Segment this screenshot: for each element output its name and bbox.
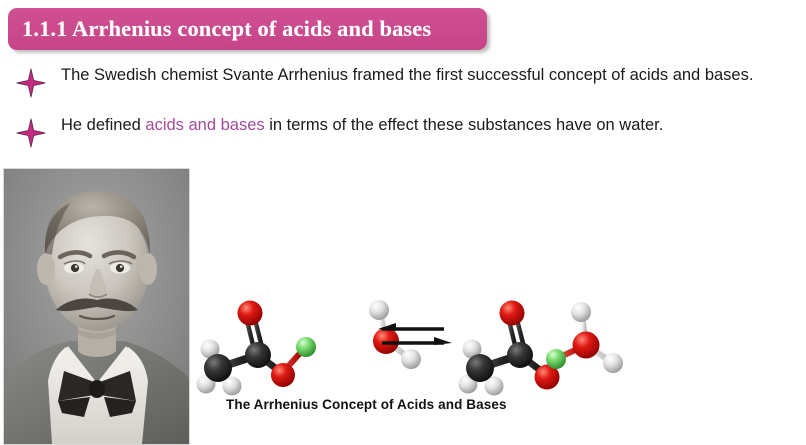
title-banner: 1.1.1 Arrhenius concept of acids and bas… bbox=[8, 8, 487, 50]
bullet-2-segment-1: He defined bbox=[61, 116, 145, 134]
svante-arrhenius-portrait bbox=[3, 168, 190, 445]
bullet-2-highlight: acids and bases bbox=[145, 116, 264, 134]
list-item-text: The Swedish chemist Svante Arrhenius fra… bbox=[61, 64, 806, 87]
hydronium-ion-molecule bbox=[546, 302, 623, 373]
acetate-ion-molecule bbox=[459, 301, 560, 396]
slide-canvas: 1.1.1 Arrhenius concept of acids and bas… bbox=[0, 0, 806, 445]
figure-caption: The Arrhenius Concept of Acids and Bases bbox=[226, 397, 507, 412]
acetic-acid-molecule bbox=[197, 301, 317, 396]
list-item: The Swedish chemist Svante Arrhenius fra… bbox=[0, 64, 806, 114]
four-point-star-bullet-icon bbox=[0, 114, 61, 148]
reaction-figure bbox=[190, 285, 806, 445]
page-title: 1.1.1 Arrhenius concept of acids and bas… bbox=[8, 16, 431, 42]
list-item: He defined acids and bases in terms of t… bbox=[0, 114, 806, 148]
list-item-text: He defined acids and bases in terms of t… bbox=[61, 114, 806, 137]
bullet-2-segment-3: in terms of the effect these substances … bbox=[265, 116, 664, 134]
bullet-1-segment-1: The Swedish chemist Svante Arrhenius fra… bbox=[61, 66, 753, 84]
water-molecule bbox=[369, 300, 421, 369]
four-point-star-bullet-icon bbox=[0, 64, 61, 98]
bullet-list: The Swedish chemist Svante Arrhenius fra… bbox=[0, 64, 806, 148]
